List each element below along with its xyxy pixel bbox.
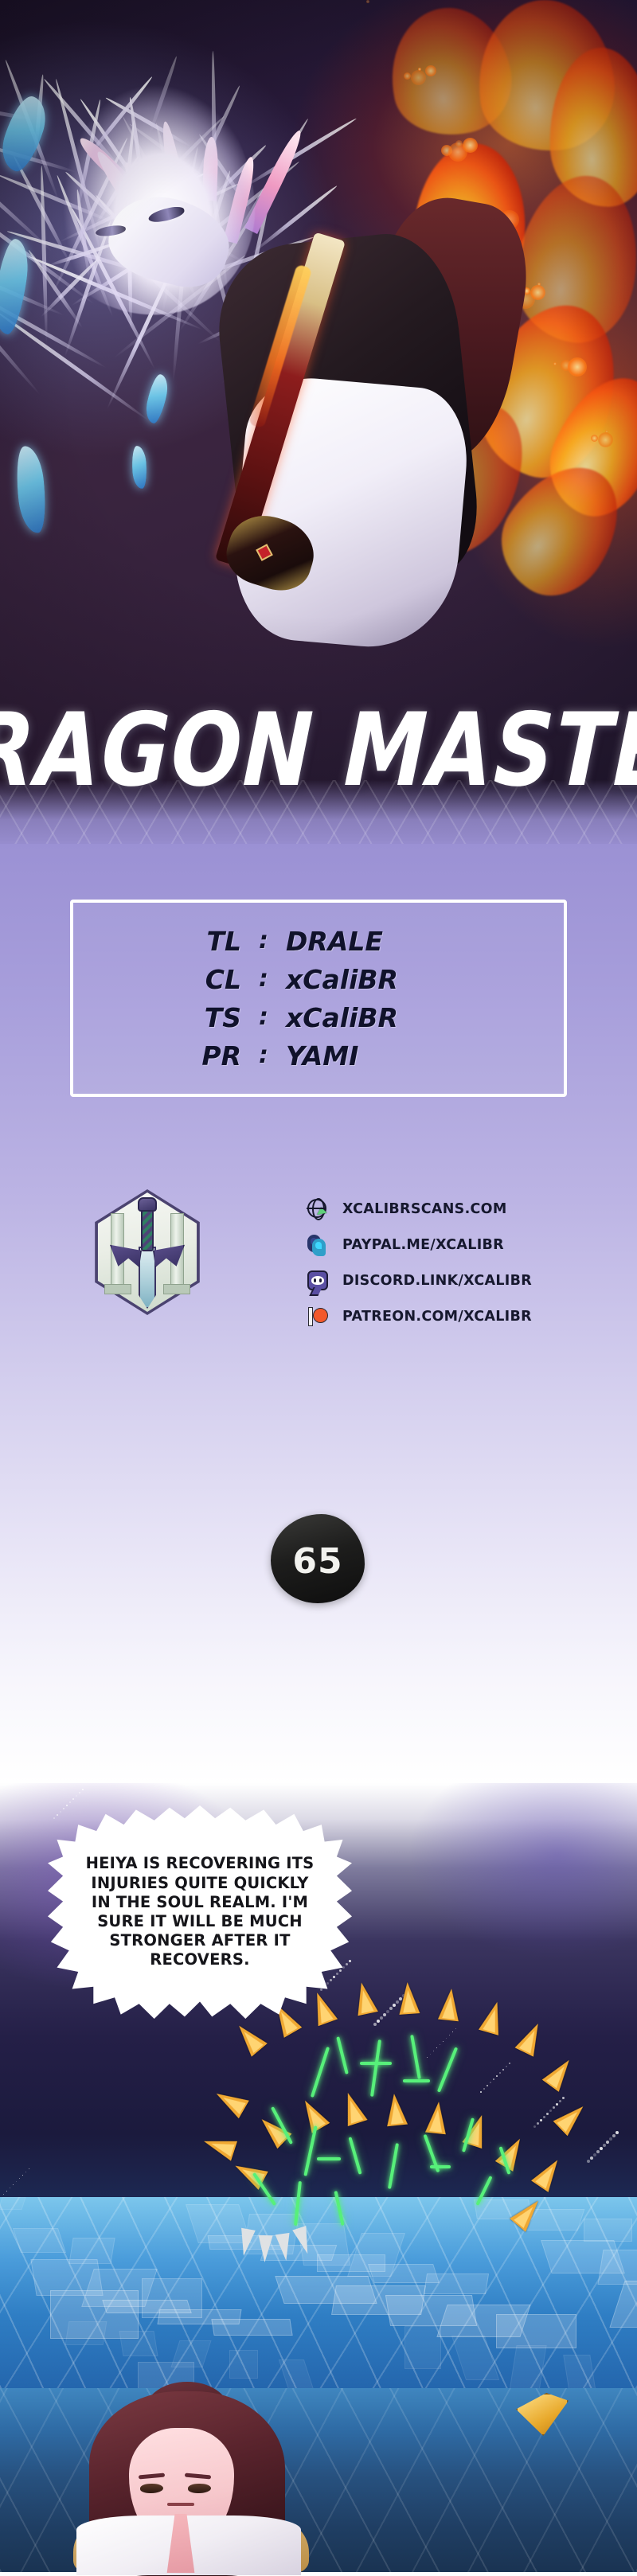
link-row-discord[interactable]: DISCORD.LINK/XCALIBR (307, 1266, 594, 1298)
link-row-paypal[interactable]: PAYPAL.ME/XCALIBR (307, 1230, 594, 1262)
character-mouth (167, 2503, 194, 2506)
credit-separator: : (241, 929, 286, 953)
logo-pillar-base-left (104, 1284, 131, 1294)
link-row-patreon[interactable]: PATREON.COM/XCALIBR (307, 1302, 594, 1333)
credit-role: PR (70, 1043, 241, 1069)
discord-icon-wrap (307, 1270, 330, 1293)
page-title: DRAGON MASTER (0, 700, 637, 801)
link-label: DISCORD.LINK/XCALIBR (342, 1274, 532, 1289)
credit-row: CL:xCaliBR (70, 960, 567, 998)
credits-table: TL:DRALECL:xCaliBRTS:xCaliBRPR:YAMI (70, 900, 567, 1097)
credit-separator: : (241, 1005, 286, 1029)
credit-row: PR:YAMI (70, 1036, 567, 1075)
discord-icon (307, 1270, 328, 1290)
credit-name: DRALE (286, 928, 567, 954)
speech-bubble-text: Heiya is recovering its injuries quite q… (48, 1805, 352, 2019)
link-label: PATREON.COM/XCALIBR (342, 1310, 532, 1325)
credit-row: TS:xCaliBR (70, 998, 567, 1036)
ice-ground (0, 2197, 637, 2388)
credit-separator: : (241, 967, 286, 991)
title-banner: DRAGON MASTER (0, 686, 637, 814)
link-label: PAYPAL.ME/XCALIBR (342, 1239, 504, 1253)
logo-sword-grip (141, 1207, 154, 1251)
paypal-icon (307, 1235, 328, 1257)
credit-name: xCaliBR (286, 966, 567, 993)
link-row-globe[interactable]: XCALIBRSCANS.COM (307, 1194, 594, 1226)
logo-pillar-base-right (163, 1284, 190, 1294)
credit-separator: : (241, 1044, 286, 1067)
social-links: XCALIBRSCANS.COMPAYPAL.ME/XCALIBRDISCORD… (307, 1194, 594, 1337)
credit-row: TL:DRALE (70, 922, 567, 960)
logo-sword-pommel (138, 1197, 157, 1212)
patreon-icon (307, 1306, 328, 1327)
cursor-arrow-icon (317, 1207, 328, 1218)
credit-name: xCaliBR (286, 1005, 567, 1031)
chapter-number: 65 (271, 1514, 365, 1603)
credit-role: TL (70, 928, 241, 954)
paypal-icon-wrap (307, 1235, 330, 1257)
patreon-icon-wrap (307, 1306, 330, 1329)
credit-name: YAMI (286, 1043, 567, 1069)
scanlation-logo[interactable] (92, 1189, 203, 1315)
link-label: XCALIBRSCANS.COM (342, 1203, 507, 1217)
globe-icon-wrap (307, 1199, 330, 1221)
credit-role: CL (70, 966, 241, 993)
credit-role: TS (70, 1005, 241, 1031)
globe-icon (307, 1199, 326, 1218)
